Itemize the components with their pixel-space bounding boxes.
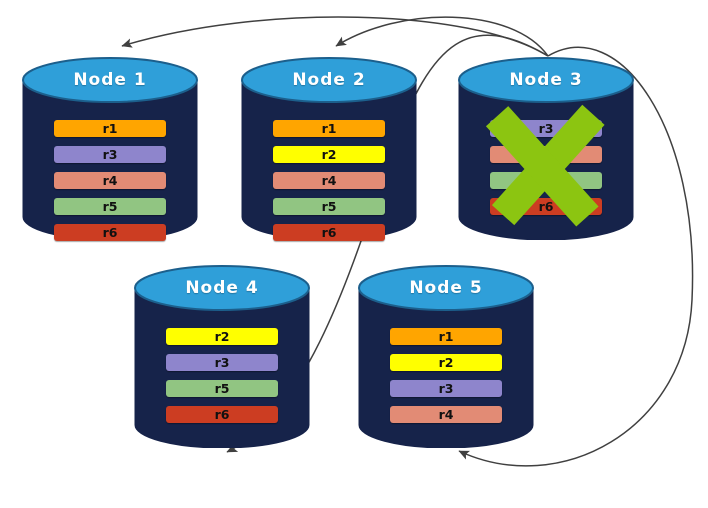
diagram-canvas: Node 1r1r3r4r5r6Node 2r1r2r4r5r6Node 3r3… xyxy=(0,0,708,508)
node-5-label: Node 5 xyxy=(358,278,534,298)
edge-node3-to-node2 xyxy=(336,17,548,56)
node-4-label: Node 4 xyxy=(134,278,310,298)
x-mark-failed-icon xyxy=(458,57,634,240)
node-1-label: Node 1 xyxy=(22,70,198,90)
node-5-record-r2[interactable]: r2 xyxy=(390,354,502,371)
node-4-record-r3[interactable]: r3 xyxy=(166,354,278,371)
edge-node3-to-node1 xyxy=(122,17,548,56)
node-2-record-r1[interactable]: r1 xyxy=(273,120,385,137)
node-1-record-r1[interactable]: r1 xyxy=(54,120,166,137)
node-5-record-r3[interactable]: r3 xyxy=(390,380,502,397)
node-1-record-r3[interactable]: r3 xyxy=(54,146,166,163)
node-2-record-r6[interactable]: r6 xyxy=(273,224,385,241)
node-5-record-r4[interactable]: r4 xyxy=(390,406,502,423)
node-2-record-r5[interactable]: r5 xyxy=(273,198,385,215)
node-2[interactable]: Node 2r1r2r4r5r6 xyxy=(241,57,417,240)
node-2-label: Node 2 xyxy=(241,70,417,90)
node-3[interactable]: Node 3r3r4r5r6 xyxy=(458,57,634,240)
node-2-record-r2[interactable]: r2 xyxy=(273,146,385,163)
node-5[interactable]: Node 5r1r2r3r4 xyxy=(358,265,534,448)
node-1-record-r4[interactable]: r4 xyxy=(54,172,166,189)
node-2-record-r4[interactable]: r4 xyxy=(273,172,385,189)
node-4[interactable]: Node 4r2r3r5r6 xyxy=(134,265,310,448)
node-4-record-r2[interactable]: r2 xyxy=(166,328,278,345)
node-5-record-r1[interactable]: r1 xyxy=(390,328,502,345)
node-4-record-r5[interactable]: r5 xyxy=(166,380,278,397)
node-1-record-r6[interactable]: r6 xyxy=(54,224,166,241)
node-1[interactable]: Node 1r1r3r4r5r6 xyxy=(22,57,198,240)
node-4-record-r6[interactable]: r6 xyxy=(166,406,278,423)
node-1-record-r5[interactable]: r5 xyxy=(54,198,166,215)
